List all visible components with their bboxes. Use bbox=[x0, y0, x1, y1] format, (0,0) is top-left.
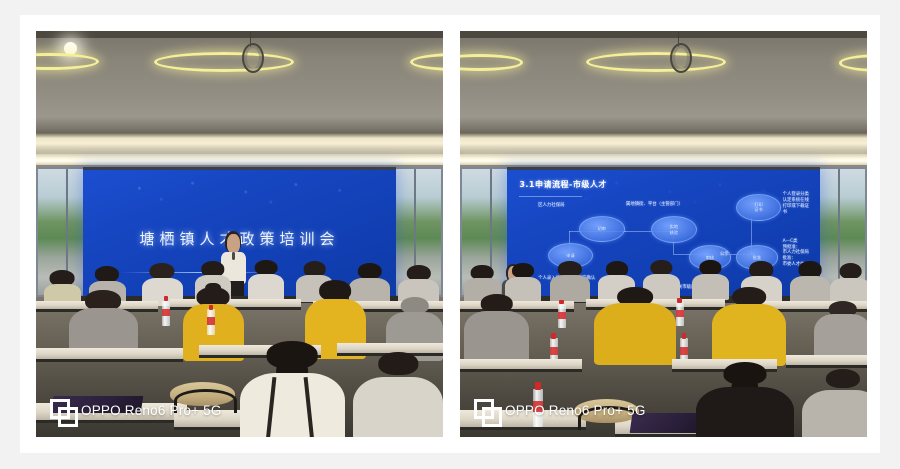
ring-light-icon bbox=[154, 52, 294, 72]
slide-note-bureau: 区人力社保局 bbox=[538, 203, 564, 209]
cable-coil-icon bbox=[242, 43, 264, 73]
headset-icon bbox=[174, 389, 237, 412]
audience-person bbox=[248, 260, 285, 299]
page-root: 塘栖镇人才政策培训会 bbox=[0, 0, 900, 469]
flow-node-print: 打印 证书 bbox=[736, 194, 782, 221]
slide-title: 3.1申请流程-市级人才 bbox=[519, 179, 607, 190]
slide-note-platform: 属地镇街、平台（主管部门） bbox=[626, 202, 683, 208]
cable-coil-icon bbox=[670, 43, 692, 73]
water-bottle bbox=[207, 309, 215, 335]
audience-person bbox=[814, 301, 867, 362]
water-bottle bbox=[558, 304, 566, 328]
slide-note-publicity: 公示 bbox=[720, 252, 729, 258]
photo-left[interactable]: 塘栖镇人才政策培训会 bbox=[36, 31, 443, 437]
slide-title-rule bbox=[519, 196, 582, 197]
audience-person bbox=[790, 261, 831, 302]
booklet bbox=[630, 413, 706, 433]
ceiling-band bbox=[460, 31, 867, 38]
audience-person bbox=[550, 261, 591, 300]
table bbox=[786, 355, 867, 368]
audience-person bbox=[142, 263, 183, 304]
photo-row: 塘栖镇人才政策培训会 bbox=[36, 31, 868, 437]
audience-person-front bbox=[240, 341, 346, 437]
ring-light-icon bbox=[410, 53, 443, 71]
audience-person bbox=[464, 294, 529, 362]
flow-node-review: 初审 bbox=[579, 216, 625, 242]
water-bottle bbox=[676, 302, 684, 326]
audience-person bbox=[712, 287, 785, 362]
booklet bbox=[51, 396, 143, 413]
ceiling-band bbox=[36, 31, 443, 38]
audience-person-front bbox=[802, 369, 867, 437]
water-bottle bbox=[533, 389, 543, 427]
audience-person-front bbox=[696, 362, 794, 437]
photo-right[interactable]: 3.1申请流程-市级人才 申请 初审 实地 核验 审核 批准 bbox=[460, 31, 867, 437]
table bbox=[460, 359, 582, 372]
photo-card: 塘栖镇人才政策培训会 bbox=[20, 15, 880, 453]
ceiling bbox=[460, 31, 867, 165]
audience-person-front bbox=[353, 352, 443, 437]
ring-light-icon bbox=[36, 53, 99, 70]
audience-left bbox=[36, 266, 443, 437]
ceiling bbox=[36, 31, 443, 165]
slide-note-print: 个人登录分类 认定系统在线 打印或下载证 书 bbox=[783, 192, 809, 216]
water-bottle bbox=[162, 301, 170, 327]
table bbox=[36, 348, 183, 361]
microphone-icon bbox=[232, 252, 235, 260]
audience-person bbox=[594, 287, 675, 362]
audience-person bbox=[830, 263, 867, 304]
table-front bbox=[460, 410, 586, 430]
ring-light-icon bbox=[460, 54, 523, 71]
presenter-head bbox=[227, 234, 240, 253]
audience-right bbox=[460, 266, 867, 437]
ring-light-icon bbox=[839, 54, 868, 71]
ring-light-icon bbox=[586, 52, 726, 72]
flow-node-verify: 实地 核验 bbox=[651, 216, 697, 243]
